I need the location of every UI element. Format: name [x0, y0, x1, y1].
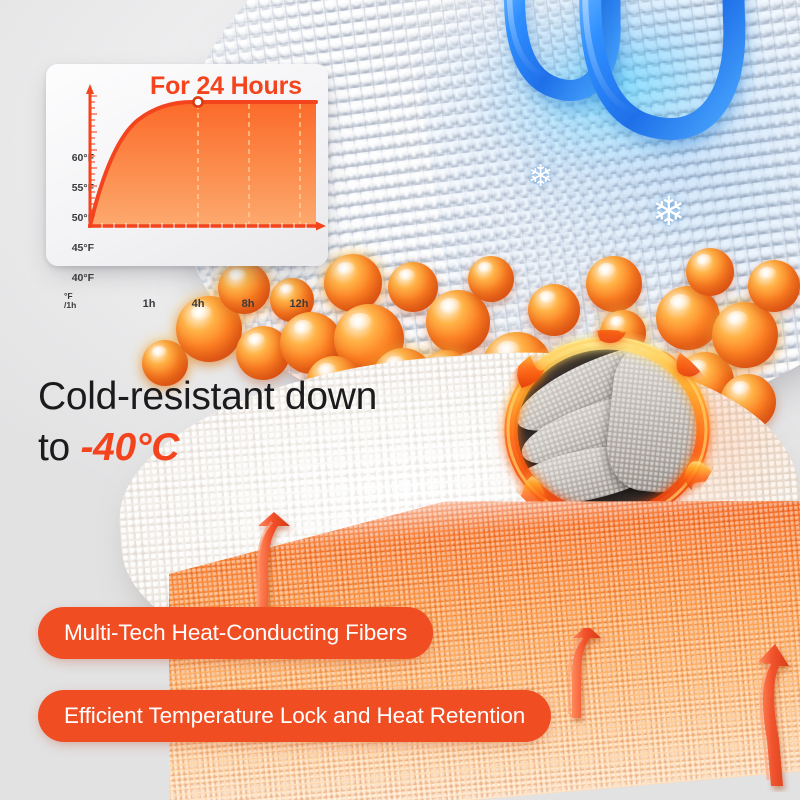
bead: [748, 260, 800, 312]
bead: [468, 256, 514, 302]
headline-line-2: to -40°C: [38, 423, 508, 474]
x-axis-arrowhead: [316, 222, 326, 231]
heat-arrow-left: [232, 510, 304, 620]
x-tick-label-12h: 12h: [290, 298, 309, 310]
feature-pill-retention: Efficient Temperature Lock and Heat Rete…: [38, 690, 551, 742]
heat-arrow-center: [548, 628, 610, 724]
bead: [528, 284, 580, 336]
cooling-tubes-svg: [470, 0, 800, 264]
chart-marker-point: [193, 97, 202, 106]
feature-pill-fibers-label: Multi-Tech Heat-Conducting Fibers: [64, 620, 407, 646]
x-tick-label-8h: 8h: [242, 298, 255, 310]
headline-temperature-value: -40°C: [80, 426, 179, 469]
feature-pill-retention-label: Efficient Temperature Lock and Heat Rete…: [64, 703, 525, 729]
cooling-tubes-group: [470, 0, 800, 264]
y-axis-unit-label: °F /1h: [64, 292, 76, 311]
snowflake-icon-small: ❄: [528, 162, 553, 192]
product-feature-image: ❄ ❄: [0, 0, 800, 800]
snowflake-icon-large: ❄: [652, 192, 686, 232]
bead: [586, 256, 642, 312]
feature-pill-fibers: Multi-Tech Heat-Conducting Fibers: [38, 607, 433, 659]
bead: [686, 248, 734, 296]
y-tick-label-40: 40°F: [54, 272, 94, 284]
heat-arrow-right: [745, 622, 800, 792]
headline-line-1: Cold-resistant down: [38, 372, 508, 423]
temperature-retention-chart-card: For 24 Hours 60°F 55°F 50°F 45°F 40°F °F…: [46, 64, 328, 266]
fire-ring-svg: [492, 330, 722, 530]
chart-plot-svg: [46, 64, 328, 266]
y-axis-arrowhead: [86, 84, 94, 94]
y-unit-line2: /1h: [64, 301, 76, 310]
x-tick-label-1h: 1h: [143, 298, 156, 310]
chart-area-fill: [90, 102, 316, 226]
flame-tongue: [685, 461, 720, 490]
fabric-cutaway-hole: [492, 330, 722, 530]
headline-prefix: to: [38, 426, 80, 469]
page-title: Cold-resistant down to -40°C: [38, 372, 508, 473]
x-tick-label-4h: 4h: [192, 298, 205, 310]
